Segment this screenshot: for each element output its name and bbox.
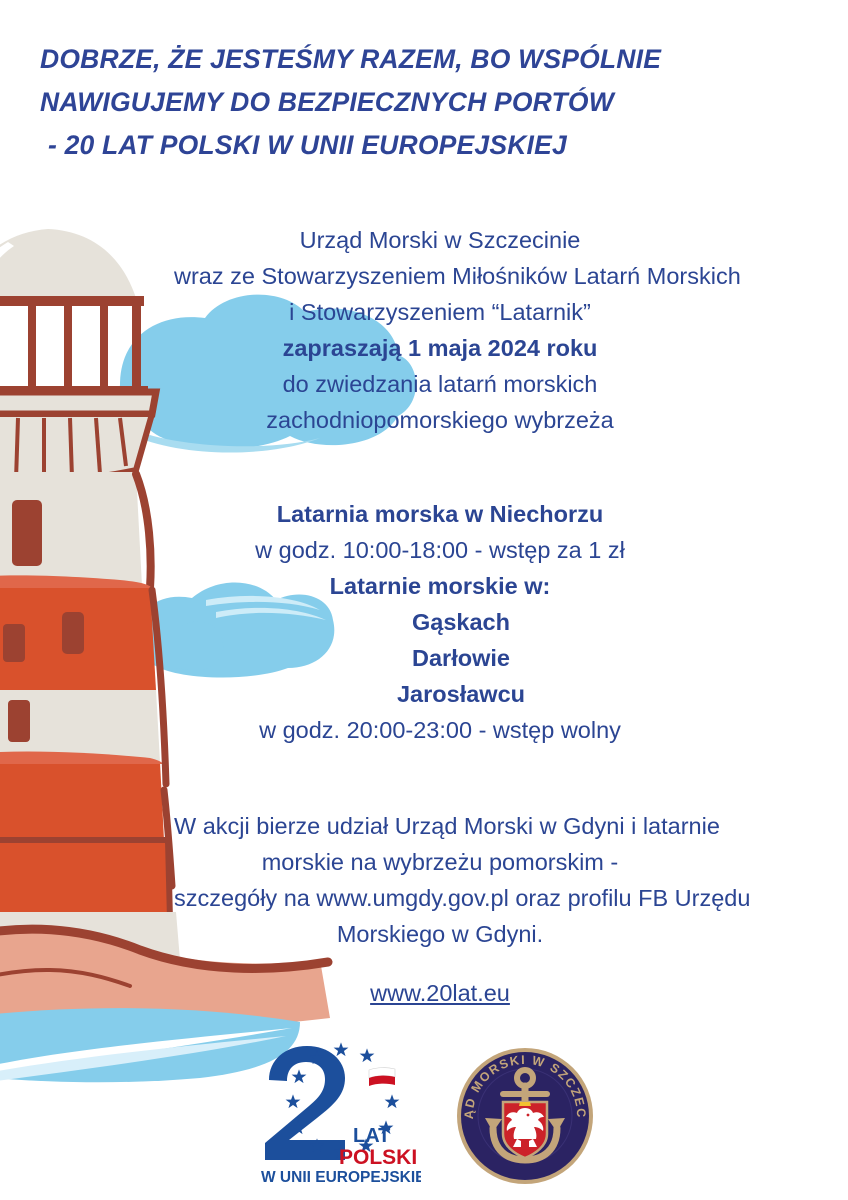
lighthouse-tower-upper-icon: [0, 472, 142, 586]
lighthouse-band-edge-2-icon: [0, 752, 163, 764]
intro-line-3: i Stowarzyszeniem “Latarnik”: [174, 294, 706, 330]
intro-paragraph: Urząd Morski w Szczecinie wraz ze Stowar…: [174, 222, 706, 438]
maritime-office-szczecin-logo: URZĄD MORSKI W SZCZECINIE: [455, 1046, 595, 1186]
lighthouse-window-2-icon: [3, 624, 25, 662]
numeral-two-icon: [265, 1046, 345, 1160]
partner-line-3: szczegóły na www.umgdy.gov.pl oraz profi…: [174, 880, 706, 916]
lighthouse-contour-base-icon: [164, 790, 172, 886]
schedule-hours-others: w godz. 20:00-23:00 - wstęp wolny: [174, 712, 706, 748]
schedule-hours-niechorze: w godz. 10:00-18:00 - wstęp za 1 zł: [174, 532, 706, 568]
lighthouse-band-cream-2-icon: [0, 690, 160, 762]
lighthouse-rail-bottom-icon: [0, 386, 148, 395]
partner-line-4: Morskiego w Gdyni.: [174, 916, 706, 952]
eagle-eye-icon: [527, 1114, 530, 1117]
intro-line-1: Urząd Morski w Szczecinie: [174, 222, 706, 258]
poster-canvas: DOBRZE, ŻE JESTEŚMY RAZEM, BO WSPÓLNIE N…: [0, 0, 848, 1200]
partner-paragraph: W akcji bierze udział Urząd Morski w Gdy…: [174, 808, 706, 952]
lighthouse-window-1-icon: [12, 500, 42, 566]
intro-line-6: zachodniopomorskiego wybrzeża: [174, 402, 706, 438]
lighthouse-window-4-icon: [8, 700, 30, 742]
lighthouse-window-3-icon: [62, 612, 84, 654]
schedule-section: Latarnia morska w Niechorzu w godz. 10:0…: [174, 496, 706, 748]
website-link-wrapper: www.20lat.eu: [174, 976, 706, 1010]
lighthouse-band-red-2-icon: [0, 762, 164, 840]
lighthouse-rail-top-icon: [0, 296, 144, 306]
logo-row: LAT POLSKI W UNII EUROPEJSKIEJ URZĄD MOR…: [0, 1040, 848, 1192]
logo-lat-text: LAT: [353, 1125, 390, 1147]
page-title: DOBRZE, ŻE JESTEŚMY RAZEM, BO WSPÓLNIE N…: [40, 38, 810, 167]
lighthouse-base-slab-icon: [0, 912, 180, 962]
logo-tagline-text: W UNII EUROPEJSKIEJ: [261, 1169, 421, 1186]
schedule-city-jaroslawiec: Jarosławcu: [174, 676, 706, 712]
partner-line-2: morskie na wybrzeżu pomorskim -: [174, 844, 706, 880]
logo-polski-text: POLSKI: [339, 1146, 417, 1169]
lighthouse-band-red-1-icon: [0, 586, 156, 690]
headline-line-1: DOBRZE, ŻE JESTEŚMY RAZEM, BO WSPÓLNIE: [40, 38, 810, 81]
lighthouse-corbel-ribs-icon: [0, 418, 126, 480]
lighthouse-plinth-icon: [0, 840, 170, 920]
schedule-heading-niechorze: Latarnia morska w Niechorzu: [174, 496, 706, 532]
lighthouse-contour-upper-icon: [136, 474, 151, 588]
schedule-heading-lighthouses: Latarnie morskie w:: [174, 568, 706, 604]
schedule-city-gaski: Gąskach: [174, 604, 706, 640]
intro-line-4-invite: zapraszają 1 maja 2024 roku: [174, 330, 706, 366]
lighthouse-dome-highlight-icon: [0, 242, 14, 298]
lighthouse-contour-lower-icon: [152, 590, 166, 784]
website-link[interactable]: www.20lat.eu: [370, 980, 510, 1006]
intro-line-5: do zwiedzania latarń morskich: [174, 366, 706, 402]
lighthouse-gallery-icon: [0, 392, 156, 414]
schedule-city-darlowo: Darłowie: [174, 640, 706, 676]
lighthouse-dome-icon: [0, 229, 136, 298]
polish-flag-icon: [369, 1068, 395, 1086]
headline-line-2: NAWIGUJEMY DO BEZPIECZNYCH PORTÓW: [40, 81, 810, 124]
lighthouse-corbel-icon: [0, 414, 152, 481]
partner-line-1: W akcji bierze udział Urząd Morski w Gdy…: [174, 808, 706, 844]
intro-line-2: wraz ze Stowarzyszeniem Miłośników Latar…: [174, 258, 706, 294]
eagle-crown-icon: [519, 1102, 531, 1106]
eu-20-years-logo: LAT POLSKI W UNII EUROPEJSKIEJ: [253, 1040, 421, 1186]
headline-line-3: - 20 LAT POLSKI W UNII EUROPEJSKIEJ: [40, 124, 810, 167]
lighthouse-rail-posts-icon: [0, 304, 141, 388]
lighthouse-band-edge-1-icon: [0, 575, 152, 588]
sand-dune-inner-icon: [0, 970, 130, 990]
